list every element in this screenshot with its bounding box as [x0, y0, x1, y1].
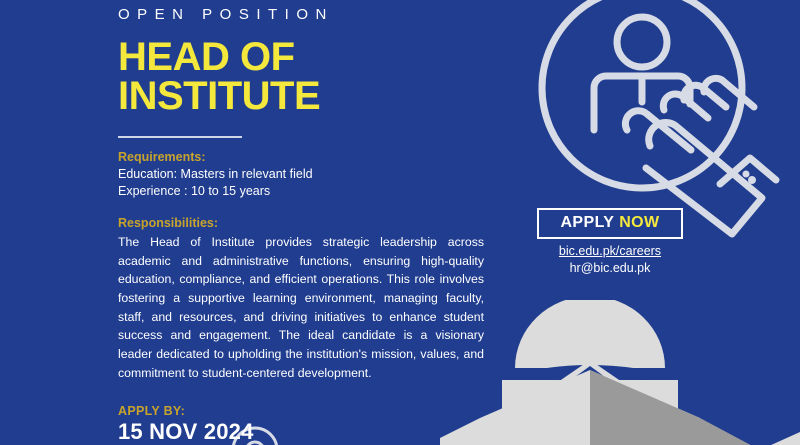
job-posting-poster: OPEN POSITION HEAD OF INSTITUTE Requirem… [0, 0, 800, 445]
job-title-line-1: HEAD OF [118, 38, 486, 78]
requirements-education: Education: Masters in relevant field [118, 166, 486, 183]
apply-cta-group: APPLY NOW bic.edu.pk/careers hr@bic.edu.… [537, 208, 683, 276]
eyebrow-open-position: OPEN POSITION [118, 7, 486, 24]
title-divider [118, 136, 242, 138]
deadline-section: APPLY BY: 15 NOV 2024 [118, 404, 486, 445]
responsibilities-body: The Head of Institute provides strategic… [118, 233, 484, 383]
poster-text-column: OPEN POSITION HEAD OF INSTITUTE Requirem… [118, 0, 486, 445]
careers-url-link[interactable]: bic.edu.pk/careers [537, 244, 683, 260]
requirements-section: Requirements: Education: Masters in rele… [118, 149, 486, 200]
responsibilities-section: Responsibilities: The Head of Institute … [118, 215, 486, 382]
page-title: HEAD OF INSTITUTE [118, 38, 486, 117]
apply-now-word-now: NOW [619, 214, 659, 231]
requirements-experience: Experience : 10 to 15 years [118, 183, 486, 200]
person-click-hand-icon [524, 0, 784, 240]
deadline-label: APPLY BY: [118, 404, 486, 418]
domed-institute-building [440, 300, 800, 445]
hr-email-address[interactable]: hr@bic.edu.pk [537, 261, 683, 277]
job-title-line-2: INSTITUTE [118, 77, 486, 117]
apply-now-button[interactable]: APPLY NOW [537, 208, 683, 239]
deadline-date: 15 NOV 2024 [118, 419, 486, 445]
apply-now-word-apply: APPLY [560, 214, 614, 231]
requirements-label: Requirements: [118, 149, 486, 166]
responsibilities-label: Responsibilities: [118, 215, 486, 232]
